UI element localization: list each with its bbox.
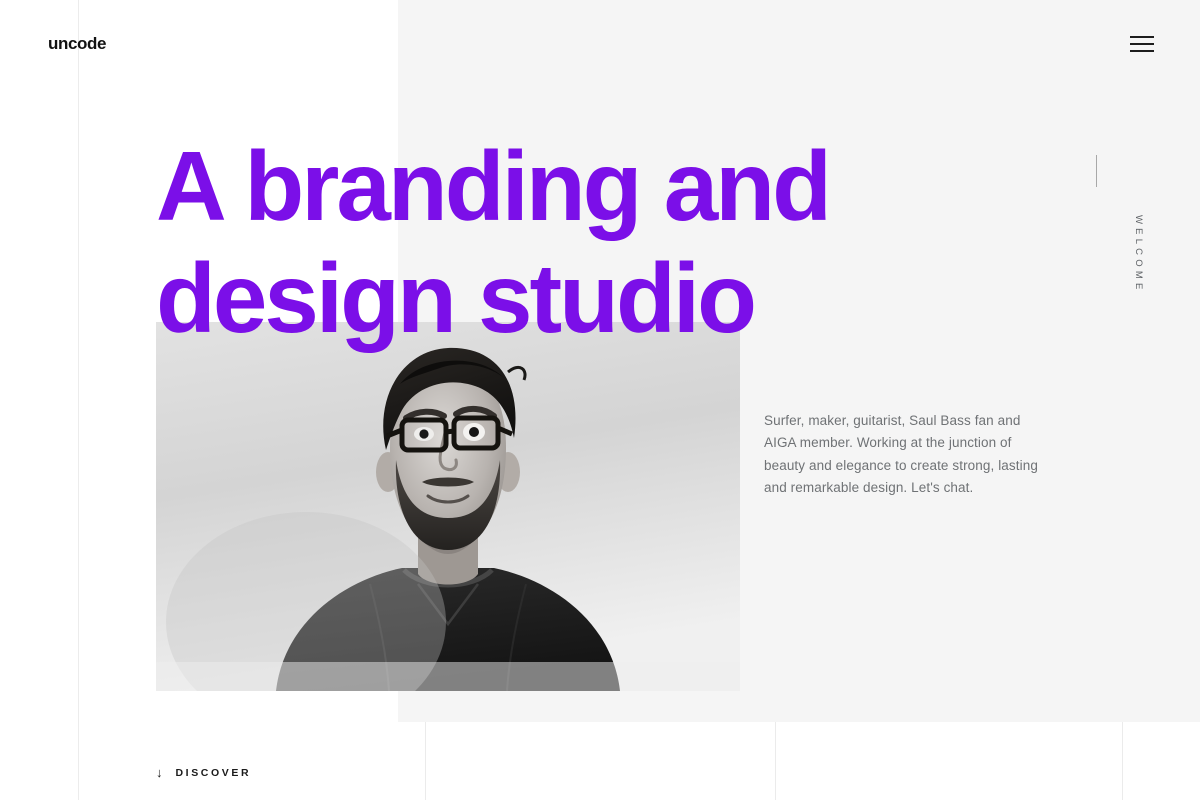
page-root: uncode: [0, 0, 1200, 800]
welcome-rule: [1096, 155, 1097, 187]
intro-paragraph: Surfer, maker, guitarist, Saul Bass fan …: [764, 410, 1046, 500]
discover-link[interactable]: ↓ DISCOVER: [156, 766, 251, 779]
grid-rule-bottom-second: [775, 722, 776, 800]
arrow-down-icon: ↓: [156, 766, 163, 779]
menu-bar-bottom: [1130, 50, 1154, 52]
discover-label: DISCOVER: [176, 767, 252, 779]
menu-bar-top: [1130, 36, 1154, 38]
grid-rule-left: [78, 0, 79, 800]
grid-rule-bottom-third: [1122, 722, 1123, 800]
grid-rule-bottom-first: [425, 722, 426, 800]
hero-heading: A branding and design studio: [156, 130, 1076, 354]
hero-heading-line-2: design studio: [156, 242, 1076, 354]
menu-bar-middle: [1130, 43, 1154, 45]
site-logo[interactable]: uncode: [48, 34, 106, 54]
hamburger-menu-icon[interactable]: [1130, 32, 1156, 56]
background-panel-bottom: [0, 722, 1200, 800]
hero-portrait-image: [156, 322, 740, 691]
welcome-label-text: WELCOME: [1052, 215, 1144, 294]
welcome-side-label: WELCOME: [1088, 155, 1108, 315]
hero-heading-line-1: A branding and: [156, 130, 1076, 242]
site-header: uncode: [0, 0, 1200, 88]
